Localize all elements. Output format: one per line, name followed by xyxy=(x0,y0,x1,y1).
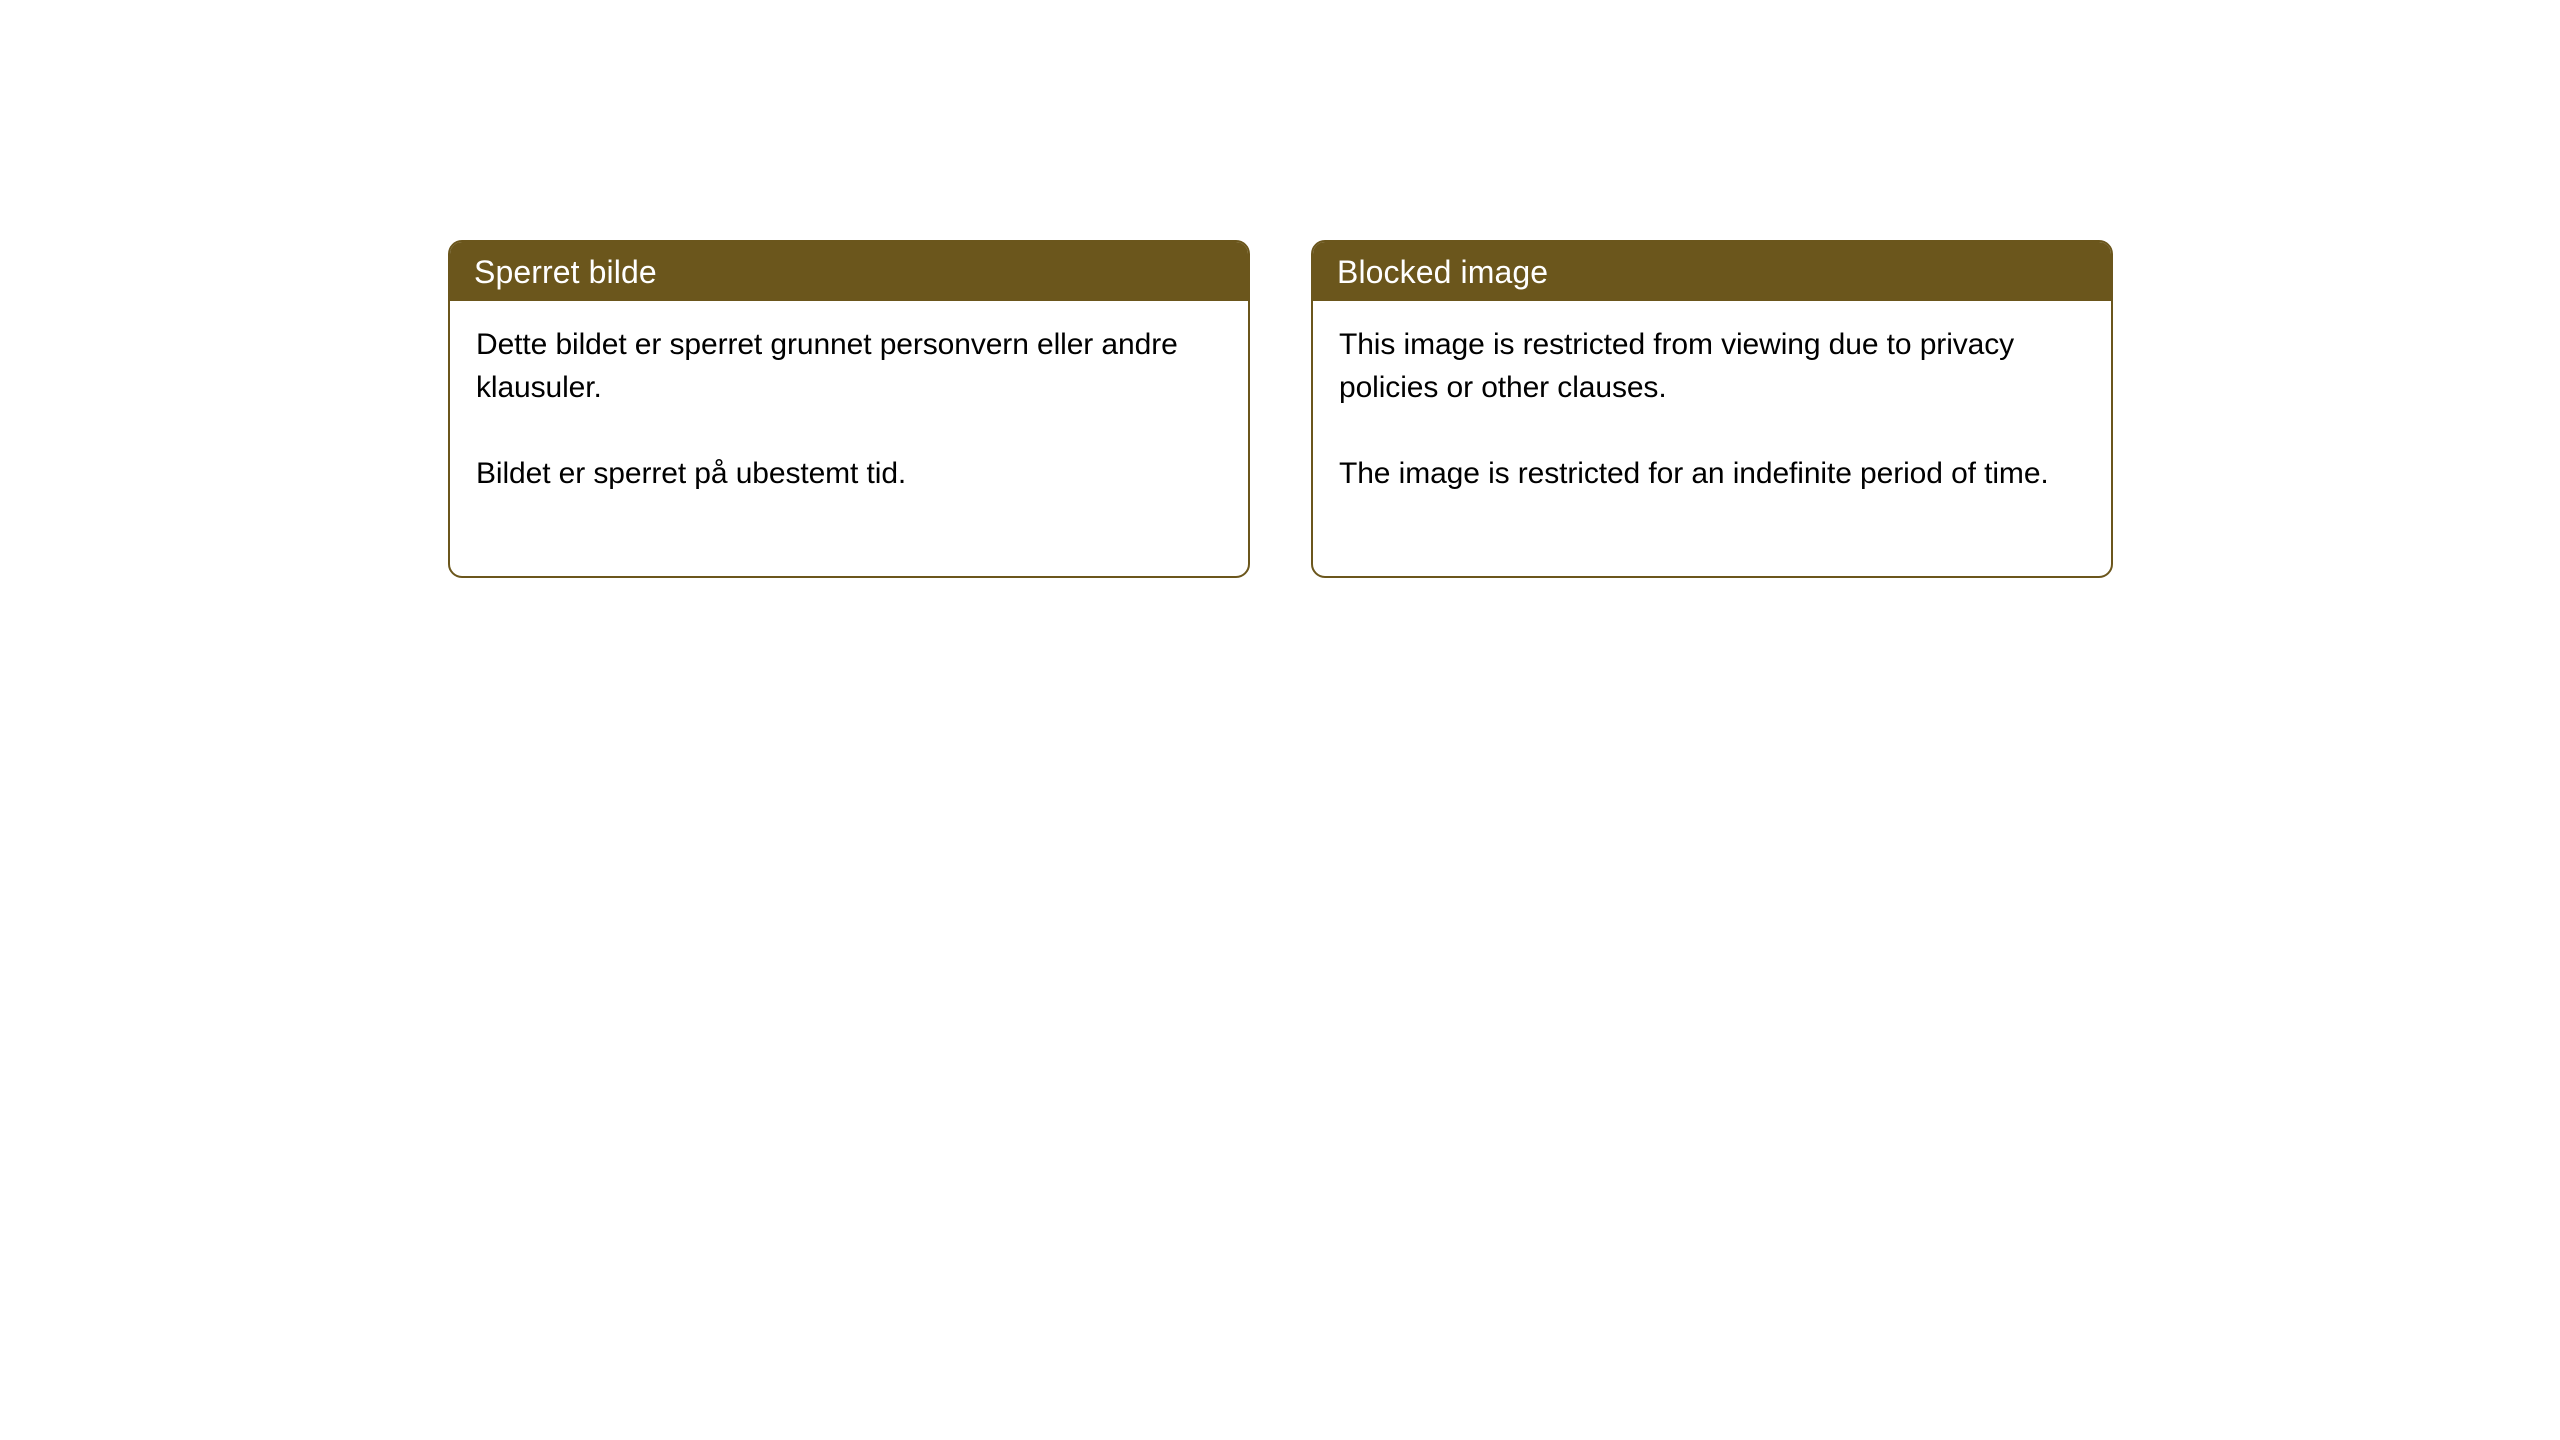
blocked-image-notice-area: Sperret bilde Dette bildet er sperret gr… xyxy=(0,0,2560,1440)
blocked-image-card-english: Blocked image This image is restricted f… xyxy=(1311,240,2113,578)
card-paragraph-duration-norwegian: Bildet er sperret på ubestemt tid. xyxy=(476,452,1222,495)
blocked-image-card-norwegian: Sperret bilde Dette bildet er sperret gr… xyxy=(448,240,1250,578)
card-header-norwegian: Sperret bilde xyxy=(450,242,1248,301)
card-body-english: This image is restricted from viewing du… xyxy=(1313,301,2111,495)
card-paragraph-reason-norwegian: Dette bildet er sperret grunnet personve… xyxy=(476,323,1222,409)
card-title-english: Blocked image xyxy=(1337,255,1548,289)
card-header-english: Blocked image xyxy=(1313,242,2111,301)
card-body-norwegian: Dette bildet er sperret grunnet personve… xyxy=(450,301,1248,495)
card-title-norwegian: Sperret bilde xyxy=(474,255,657,289)
card-paragraph-reason-english: This image is restricted from viewing du… xyxy=(1339,323,2085,409)
card-paragraph-duration-english: The image is restricted for an indefinit… xyxy=(1339,452,2085,495)
